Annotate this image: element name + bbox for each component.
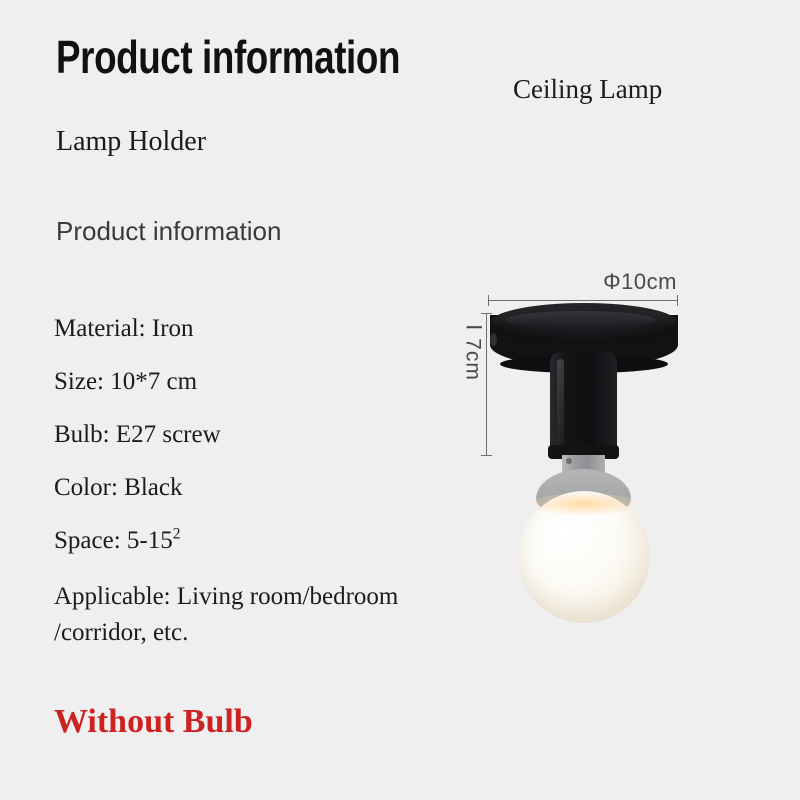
spec-space-text: Space: 5-15 — [54, 527, 173, 554]
spec-item-space: Space: 5-152 — [54, 526, 484, 579]
spec-item-size: Size: 10*7 cm — [54, 367, 484, 420]
product-illustration: Φ10cm Ⅰ 7cm — [440, 255, 780, 635]
diameter-cap-right-icon — [677, 295, 678, 306]
diameter-dimension-label: Φ10cm — [545, 269, 735, 295]
spec-item-bulb: Bulb: E27 screw — [54, 420, 484, 473]
component-label: Lamp Holder — [56, 126, 206, 158]
bulb-glow — [530, 493, 638, 515]
lamp-canopy-screw-icon — [490, 333, 497, 346]
product-information-page: Product information Ceiling Lamp Lamp Ho… — [0, 0, 800, 800]
lamp-canopy-sheen — [506, 311, 656, 329]
spec-space-superscript: 2 — [173, 526, 181, 543]
lamp-socket-highlight — [557, 359, 564, 447]
section-subtitle: Product information — [56, 216, 281, 247]
height-dimension-line — [486, 313, 487, 455]
diameter-cap-left-icon — [488, 295, 489, 306]
specification-list: Material: Iron Size: 10*7 cm Bulb: E27 s… — [54, 314, 484, 651]
spec-item-material: Material: Iron — [54, 314, 484, 367]
bulb-base-marking-icon — [566, 458, 572, 464]
page-title: Product information — [56, 34, 400, 80]
spec-item-applicable: Applicable: Living room/bedroom /corrido… — [54, 579, 484, 651]
spec-item-color: Color: Black — [54, 473, 484, 526]
product-type-label: Ceiling Lamp — [513, 74, 662, 105]
height-dimension-label: Ⅰ 7cm — [461, 308, 486, 398]
height-cap-bottom-icon — [481, 455, 492, 456]
without-bulb-notice: Without Bulb — [54, 703, 253, 741]
diameter-dimension-line — [488, 300, 678, 301]
